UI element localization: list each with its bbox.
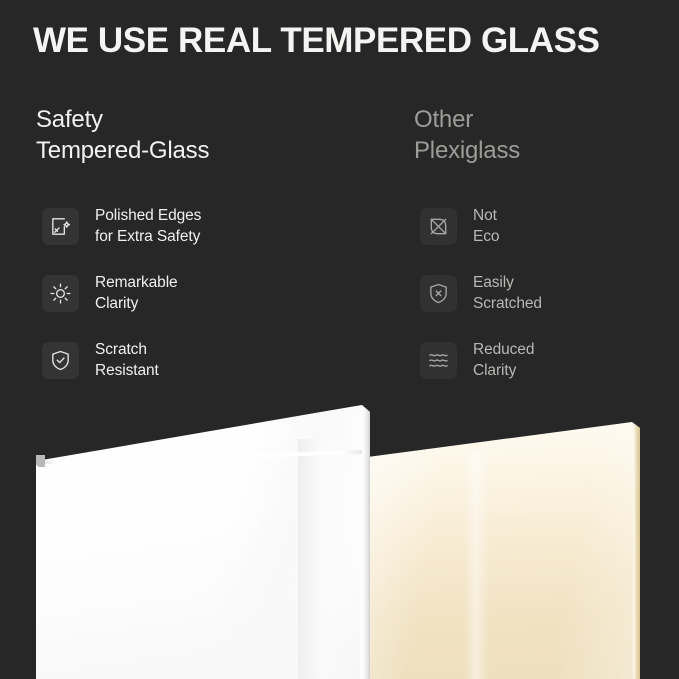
waves-blur-icon <box>420 342 457 379</box>
sun-clarity-icon <box>42 275 79 312</box>
feature-line1: Easily <box>473 274 514 291</box>
glass-edge <box>360 408 370 679</box>
feature-list-tempered-glass: Polished Edges for Extra Safety Remarkab… <box>42 208 326 409</box>
white-glass-panel <box>36 395 370 679</box>
column-tempered-glass: Safety Tempered-Glass Polished Edges fo <box>36 104 326 166</box>
product-panels-image <box>0 395 679 679</box>
feature-label-easily-scratched: Easily Scratched <box>473 272 542 314</box>
leaf-crossed-out-icon <box>420 208 457 245</box>
feature-label-remarkable-clarity: Remarkable Clarity <box>95 272 178 314</box>
column-title-line2: Plexiglass <box>414 135 679 166</box>
feature-line2: for Extra Safety <box>95 226 201 247</box>
feature-not-eco: Not Eco <box>420 208 679 275</box>
feature-line1: Not <box>473 207 497 224</box>
plexiglass-sheen <box>464 450 490 679</box>
feature-label-polished-edges: Polished Edges for Extra Safety <box>95 205 201 247</box>
feature-line2: Scratched <box>473 293 542 314</box>
column-title-line1: Safety <box>36 106 103 133</box>
shield-x-icon <box>420 275 457 312</box>
feature-list-plexiglass: Not Eco Easily Scratched <box>420 208 679 409</box>
column-title-line2: Tempered-Glass <box>36 135 326 166</box>
plexiglass-edge <box>633 425 640 679</box>
feature-line2: Clarity <box>473 360 534 381</box>
feature-line1: Polished Edges <box>95 207 201 224</box>
column-plexiglass: Other Plexiglass Not Eco <box>414 104 679 166</box>
feature-label-reduced-clarity: Reduced Clarity <box>473 339 534 381</box>
feature-label-not-eco: Not Eco <box>473 205 499 247</box>
feature-line1: Remarkable <box>95 274 178 291</box>
glass-corner-highlight <box>36 455 45 467</box>
page-title: WE USE REAL TEMPERED GLASS <box>33 20 657 62</box>
comparison-infographic: WE USE REAL TEMPERED GLASS Safety Temper… <box>0 0 679 679</box>
polished-edge-icon <box>42 208 79 245</box>
feature-easily-scratched: Easily Scratched <box>420 275 679 342</box>
feature-remarkable-clarity: Remarkable Clarity <box>42 275 326 342</box>
column-title-line1: Other <box>414 106 473 133</box>
feature-line1: Scratch <box>95 341 147 358</box>
feature-label-scratch-resistant: Scratch Resistant <box>95 339 159 381</box>
column-title-plexiglass: Other Plexiglass <box>414 104 679 166</box>
feature-line2: Resistant <box>95 360 159 381</box>
shield-check-icon <box>42 342 79 379</box>
feature-line1: Reduced <box>473 341 534 358</box>
cream-plexiglass-panel <box>368 395 640 679</box>
feature-line2: Eco <box>473 226 499 247</box>
feature-polished-edges: Polished Edges for Extra Safety <box>42 208 326 275</box>
column-title-tempered-glass: Safety Tempered-Glass <box>36 104 326 166</box>
comparison-columns: Safety Tempered-Glass Polished Edges fo <box>0 104 679 404</box>
glass-reflection <box>298 439 362 679</box>
feature-line2: Clarity <box>95 293 178 314</box>
